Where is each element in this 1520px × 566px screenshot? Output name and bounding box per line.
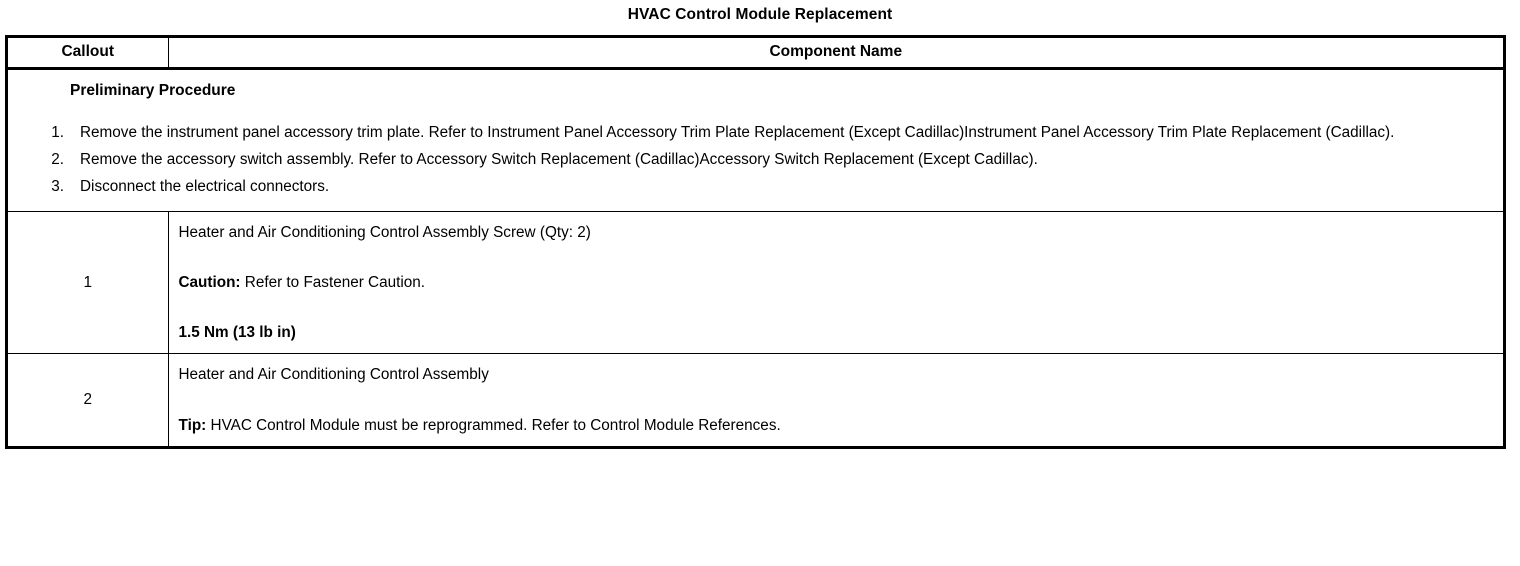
- tip-text: HVAC Control Module must be reprogrammed…: [206, 417, 780, 434]
- preliminary-procedure-row: Preliminary Procedure Remove the instrum…: [8, 69, 1503, 212]
- component-table-container: Callout Component Name Preliminary Proce…: [5, 35, 1506, 449]
- tip-note: Tip: HVAC Control Module must be reprogr…: [179, 415, 1494, 436]
- caution-label: Caution:: [179, 274, 241, 291]
- preliminary-procedure-heading: Preliminary Procedure: [18, 76, 1493, 103]
- preliminary-step: Disconnect the electrical connectors.: [66, 173, 1493, 200]
- preliminary-steps-list: Remove the instrument panel accessory tr…: [18, 119, 1493, 200]
- page-title: HVAC Control Module Replacement: [0, 0, 1520, 25]
- callout-number: 2: [8, 354, 168, 447]
- column-header-component-name: Component Name: [168, 38, 1503, 69]
- preliminary-step: Remove the accessory switch assembly. Re…: [66, 146, 1493, 173]
- table-row: 2 Heater and Air Conditioning Control As…: [8, 354, 1503, 447]
- table-header-row: Callout Component Name: [8, 38, 1503, 69]
- component-description-cell: Heater and Air Conditioning Control Asse…: [168, 354, 1503, 447]
- column-header-callout: Callout: [8, 38, 168, 69]
- component-name: Heater and Air Conditioning Control Asse…: [179, 222, 1494, 243]
- callout-number: 1: [8, 212, 168, 354]
- caution-note: Caution: Refer to Fastener Caution.: [179, 272, 1494, 293]
- component-name: Heater and Air Conditioning Control Asse…: [179, 364, 1494, 385]
- service-procedure-page: HVAC Control Module Replacement Callout …: [0, 0, 1520, 566]
- component-description-cell: Heater and Air Conditioning Control Asse…: [168, 212, 1503, 354]
- table-row: 1 Heater and Air Conditioning Control As…: [8, 212, 1503, 354]
- caution-text: Refer to Fastener Caution.: [241, 274, 426, 291]
- preliminary-step: Remove the instrument panel accessory tr…: [66, 119, 1493, 146]
- tip-label: Tip:: [179, 417, 207, 434]
- preliminary-procedure-cell: Preliminary Procedure Remove the instrum…: [8, 69, 1503, 212]
- torque-specification: 1.5 Nm (13 lb in): [179, 322, 1494, 343]
- component-table: Callout Component Name Preliminary Proce…: [8, 38, 1503, 446]
